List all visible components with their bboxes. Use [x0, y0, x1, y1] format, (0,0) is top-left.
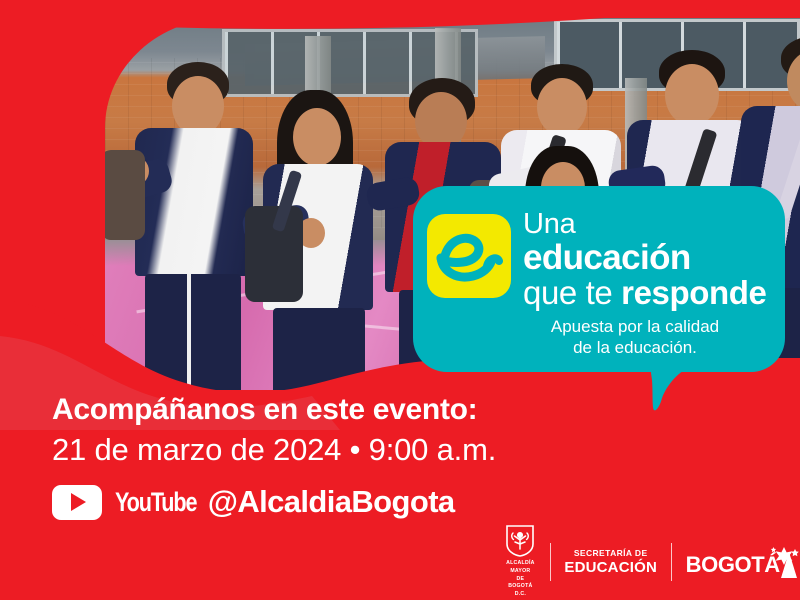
e-logo-icon	[427, 214, 511, 298]
bubble-sub-line-1: Apuesta por la calidad	[499, 316, 771, 337]
alcaldia-caption: ALCALDÍA MAYOR DE BOGOTÁ D.C.	[505, 560, 536, 599]
poster-canvas: Una educación que te responde Apuesta po…	[0, 0, 800, 600]
play-triangle-icon	[71, 493, 86, 511]
bogota-wordmark: BOGOTÁ	[686, 552, 780, 578]
event-headline: Acompáñanos en este evento:	[52, 392, 612, 427]
speech-bubble: Una educación que te responde Apuesta po…	[413, 186, 785, 372]
bogota-shield-icon	[505, 525, 535, 557]
alcaldia-mayor-logo: ALCALDÍA MAYOR DE BOGOTÁ D.C.	[505, 525, 536, 599]
bubble-sub-line-2: de la educación.	[499, 337, 771, 358]
bogota-star-icon	[767, 546, 800, 580]
bubble-headline: Una educación que te responde	[523, 210, 775, 309]
footer-logos: ALCALDÍA MAYOR DE BOGOTÁ D.C. SECRETARÍA…	[505, 536, 800, 588]
youtube-label: YouTube	[115, 487, 196, 518]
event-datetime: 21 de marzo de 2024 • 9:00 a.m.	[52, 431, 612, 470]
speech-bubble-tail	[650, 366, 694, 414]
event-copy: Acompáñanos en este evento: 21 de marzo …	[52, 392, 612, 520]
footer-divider-2	[671, 543, 672, 581]
secretaria-bottom-label: EDUCACIÓN	[564, 560, 657, 575]
youtube-play-icon[interactable]	[52, 485, 102, 520]
footer-divider-1	[550, 543, 551, 581]
bogota-brand-logo: BOGOTÁ	[686, 546, 800, 578]
alcaldia-caption-line-1: ALCALDÍA MAYOR	[505, 560, 536, 576]
bubble-line-1: Una	[523, 210, 775, 239]
secretaria-educacion-logo: SECRETARÍA DE EDUCACIÓN	[564, 549, 657, 575]
youtube-handle[interactable]: @AlcaldiaBogota	[208, 484, 455, 520]
bubble-line-3-bold: responde	[621, 274, 766, 311]
alcaldia-caption-line-2: DE BOGOTÁ D.C.	[505, 576, 536, 599]
bubble-subtext: Apuesta por la calidad de la educación.	[413, 316, 771, 359]
bubble-line-3: que te responde	[523, 276, 775, 309]
secretaria-top-label: SECRETARÍA DE	[574, 549, 648, 558]
top-red-band	[0, 0, 800, 40]
youtube-row[interactable]: YouTube @AlcaldiaBogota	[52, 484, 612, 520]
bubble-line-3-light: que te	[523, 274, 621, 311]
bubble-line-2: educación	[523, 240, 775, 275]
